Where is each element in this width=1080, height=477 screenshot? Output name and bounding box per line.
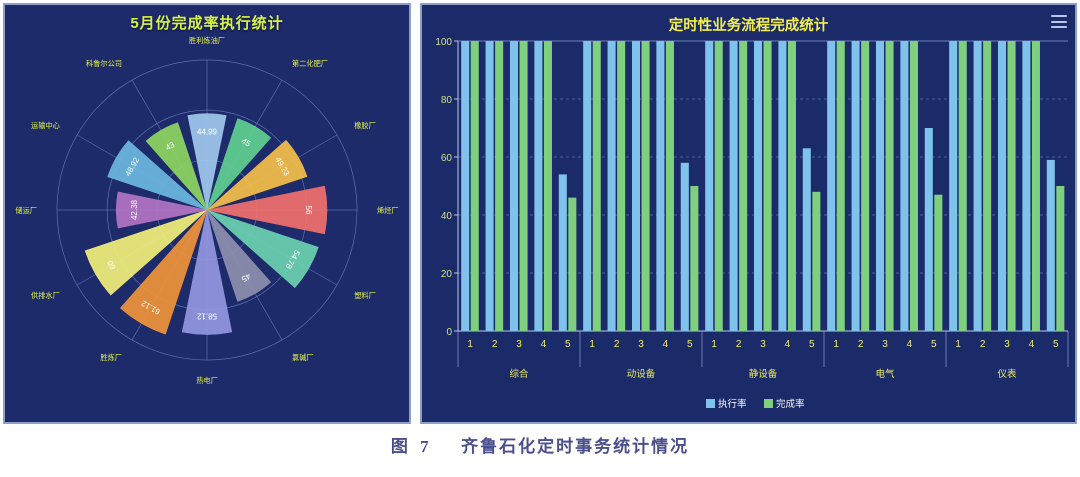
bar[interactable] (803, 148, 811, 331)
y-axis-tick: 20 (441, 269, 453, 280)
rose-axis-label: 胜炼厂 (100, 353, 122, 362)
bar[interactable] (461, 41, 469, 331)
bar[interactable] (837, 41, 845, 331)
bar[interactable] (949, 41, 957, 331)
rose-axis-label: 胜利炼油厂 (189, 36, 225, 45)
legend-label[interactable]: 完成率 (776, 398, 805, 410)
bar[interactable] (666, 41, 674, 331)
bar[interactable] (974, 41, 982, 331)
figure-container: 5月份完成率执行统计 44.994549.235654.784558.1261.… (0, 0, 1080, 477)
bar-chart-svg[interactable]: 0204060801001234512345123451234512345综合动… (422, 31, 1075, 423)
bar[interactable] (1056, 186, 1064, 331)
bar[interactable] (642, 41, 650, 331)
bar[interactable] (656, 41, 664, 331)
rose-chart-panel: 5月份完成率执行统计 44.994549.235654.784558.1261.… (3, 3, 411, 424)
bar[interactable] (471, 41, 479, 331)
bar[interactable] (812, 192, 820, 331)
x-axis-tick: 2 (736, 339, 742, 350)
rose-axis-label: 橡胶厂 (354, 121, 376, 130)
x-axis-group-label: 动设备 (627, 368, 656, 380)
legend-swatch[interactable] (764, 399, 773, 408)
rose-sector-value: 44.99 (197, 128, 218, 137)
y-axis-tick: 40 (441, 211, 453, 222)
x-axis-tick: 2 (492, 339, 498, 350)
x-axis-tick: 3 (760, 339, 766, 350)
bar[interactable] (534, 41, 542, 331)
bar[interactable] (910, 41, 918, 331)
bar[interactable] (886, 41, 894, 331)
bar[interactable] (544, 41, 552, 331)
y-axis-tick: 60 (441, 153, 453, 164)
rose-axis-label: 烯烃厂 (377, 206, 399, 215)
bar[interactable] (827, 41, 835, 331)
bar[interactable] (861, 41, 869, 331)
legend-swatch[interactable] (706, 399, 715, 408)
x-axis-tick: 4 (907, 339, 913, 350)
rose-sector-value: 56 (304, 206, 313, 215)
x-axis-tick: 3 (1004, 339, 1010, 350)
bar[interactable] (983, 41, 991, 331)
x-axis-tick: 5 (1053, 339, 1059, 350)
bar[interactable] (568, 198, 576, 331)
x-axis-group-label: 静设备 (749, 368, 778, 380)
x-axis-tick: 5 (565, 339, 571, 350)
y-axis-tick: 100 (435, 37, 452, 48)
bar[interactable] (998, 41, 1006, 331)
x-axis-tick: 4 (541, 339, 547, 350)
rose-axis-label: 科鲁尔公司 (86, 59, 122, 68)
bar[interactable] (559, 174, 567, 331)
bar[interactable] (754, 41, 762, 331)
bar[interactable] (778, 41, 786, 331)
x-axis-tick: 4 (785, 339, 791, 350)
bar[interactable] (1047, 160, 1055, 331)
x-axis-tick: 1 (589, 339, 595, 350)
rose-chart-svg[interactable]: 44.994549.235654.784558.1261.126042.3848… (7, 27, 407, 417)
x-axis-tick: 2 (858, 339, 864, 350)
bar[interactable] (583, 41, 591, 331)
hamburger-line-2 (1051, 21, 1067, 23)
bar[interactable] (788, 41, 796, 331)
bar[interactable] (959, 41, 967, 331)
bar-chart-panel: 定时性业务流程完成统计 0204060801001234512345123451… (420, 3, 1077, 424)
rose-axis-label: 第二化肥厂 (292, 59, 328, 68)
bar[interactable] (495, 41, 503, 331)
x-axis-tick: 5 (809, 339, 815, 350)
x-axis-tick: 3 (882, 339, 888, 350)
x-axis-tick: 2 (980, 339, 986, 350)
x-axis-tick: 5 (931, 339, 937, 350)
x-axis-tick: 4 (663, 339, 669, 350)
x-axis-tick: 2 (614, 339, 620, 350)
y-axis-tick: 0 (446, 327, 452, 338)
x-axis-tick: 1 (833, 339, 839, 350)
x-axis-group-label: 电气 (875, 368, 895, 380)
x-axis-tick: 3 (516, 339, 522, 350)
bar[interactable] (925, 128, 933, 331)
bar[interactable] (681, 163, 689, 331)
rose-axis-label: 运输中心 (31, 121, 60, 130)
figure-caption: 图 7 齐鲁石化定时事务统计情况 (0, 432, 1080, 457)
x-axis-tick: 1 (467, 339, 473, 350)
bar[interactable] (486, 41, 494, 331)
x-axis-tick: 4 (1029, 339, 1035, 350)
bar[interactable] (934, 195, 942, 331)
bar[interactable] (510, 41, 518, 331)
rose-axis-label: 储运厂 (15, 206, 37, 215)
bar[interactable] (764, 41, 772, 331)
bar[interactable] (715, 41, 723, 331)
rose-axis-label: 塑料厂 (354, 291, 376, 300)
bar[interactable] (876, 41, 884, 331)
bar[interactable] (617, 41, 625, 331)
legend-label[interactable]: 执行率 (718, 398, 747, 410)
rose-axis-label: 热电厂 (196, 376, 218, 385)
figure-number: 图 7 (391, 437, 433, 456)
bar[interactable] (1022, 41, 1030, 331)
x-axis-tick: 3 (638, 339, 644, 350)
bar[interactable] (1032, 41, 1040, 331)
bar[interactable] (900, 41, 908, 331)
bar[interactable] (852, 41, 860, 331)
hamburger-menu-icon[interactable] (1051, 15, 1067, 28)
bar[interactable] (520, 41, 528, 331)
bar[interactable] (705, 41, 713, 331)
figure-caption-text: 齐鲁石化定时事务统计情况 (461, 437, 689, 456)
bar[interactable] (632, 41, 640, 331)
bar[interactable] (608, 41, 616, 331)
y-axis-tick: 80 (441, 95, 453, 106)
bar[interactable] (730, 41, 738, 331)
rose-axis-label: 供排水厂 (31, 291, 60, 300)
x-axis-tick: 1 (711, 339, 717, 350)
x-axis-group-label: 仪表 (997, 368, 1017, 380)
x-axis-group-label: 综合 (509, 368, 529, 380)
bar[interactable] (739, 41, 747, 331)
bar[interactable] (593, 41, 601, 331)
bar[interactable] (1008, 41, 1016, 331)
rose-chart-area: 44.994549.235654.784558.1261.126042.3848… (5, 27, 409, 422)
bar[interactable] (690, 186, 698, 331)
x-axis-tick: 5 (687, 339, 693, 350)
x-axis-tick: 1 (955, 339, 961, 350)
hamburger-line-1 (1051, 15, 1067, 17)
rose-axis-label: 氯碱厂 (292, 353, 314, 362)
rose-sector-value: 42.38 (130, 199, 139, 220)
rose-sector-value: 58.12 (196, 312, 217, 321)
hamburger-line-3 (1051, 26, 1067, 28)
